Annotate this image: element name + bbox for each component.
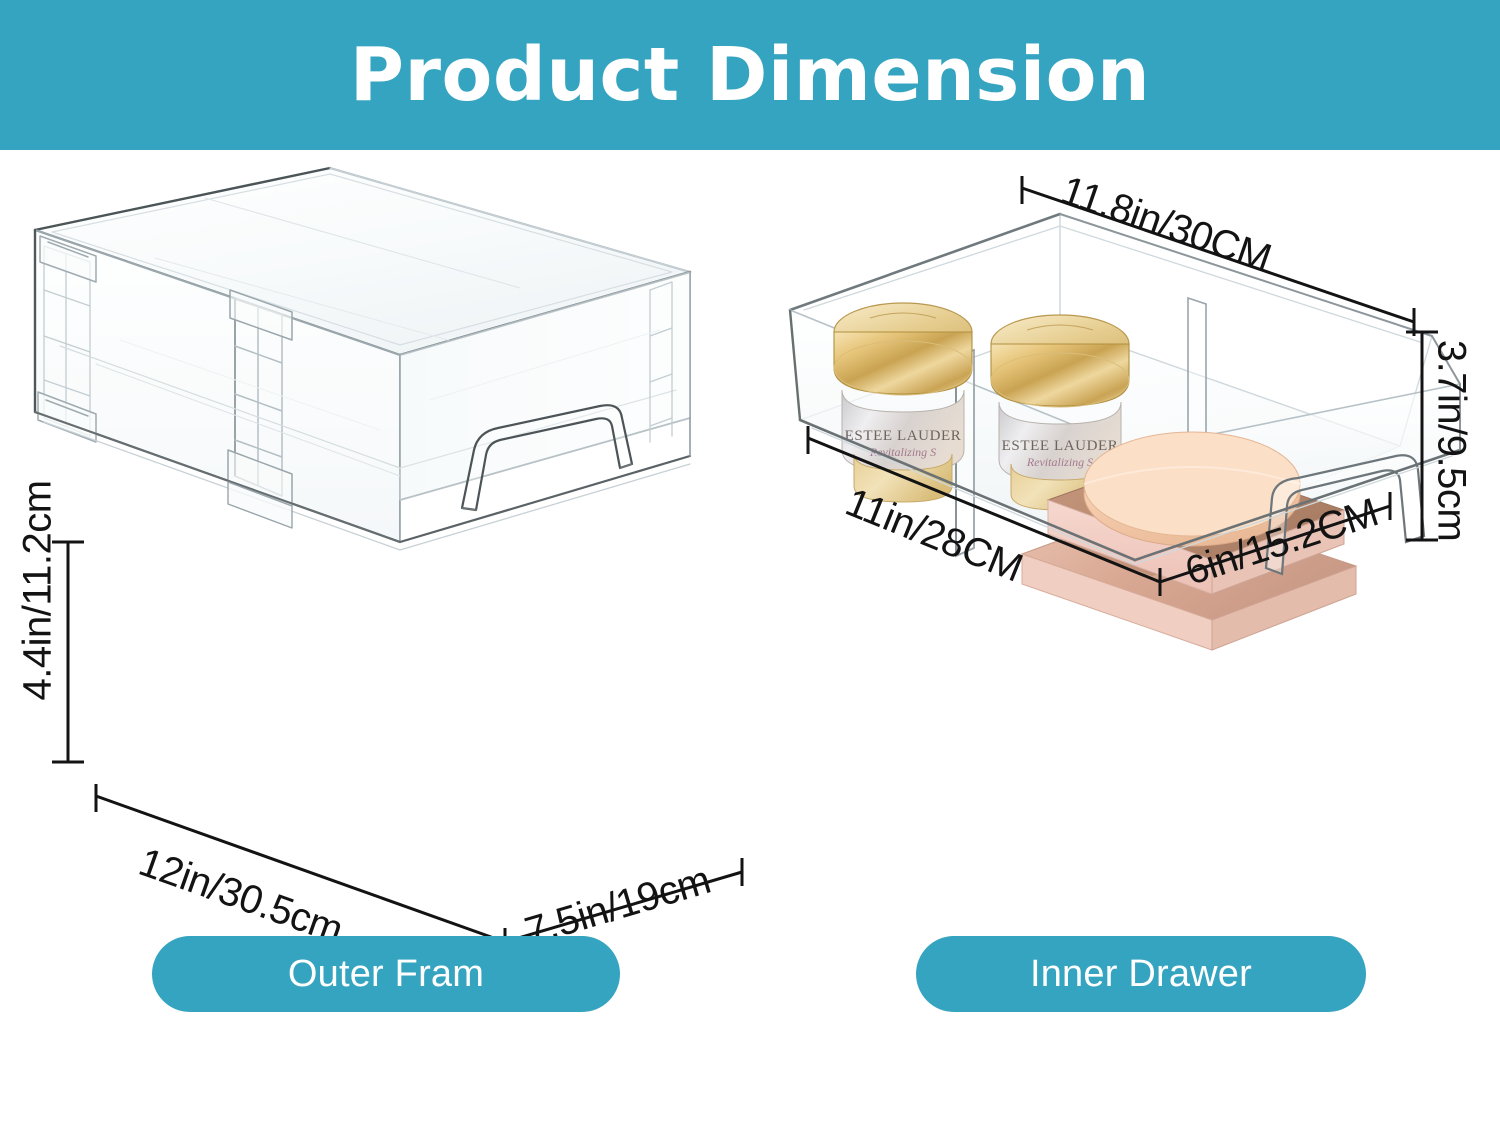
inner-drawer-dimension-lines: [760, 150, 1500, 770]
label-pill-outer-frame-text: Outer Fram: [288, 953, 484, 996]
products-stage: 4.4in/11.2cm 12in/30.5cm 7.5in/19cm Oute…: [0, 150, 1500, 1133]
product-panel-inner-drawer: ESTEE LAUDER Revitalizing S ESTEE LAUDER…: [760, 150, 1500, 1020]
label-pill-inner-drawer[interactable]: Inner Drawer: [916, 936, 1366, 1012]
page-title: Product Dimension: [350, 38, 1150, 112]
label-pill-outer-frame[interactable]: Outer Fram: [152, 936, 620, 1012]
outer-frame-dimension-lines: [0, 150, 760, 710]
inner-drawer-height-label: 3.7in/9.5cm: [1429, 316, 1474, 566]
label-pill-inner-drawer-text: Inner Drawer: [1030, 953, 1252, 996]
outer-frame-height-label: 4.4in/11.2cm: [16, 461, 61, 721]
product-panel-outer-frame: 4.4in/11.2cm 12in/30.5cm 7.5in/19cm Oute…: [0, 150, 760, 1020]
header-banner: Product Dimension: [0, 0, 1500, 150]
